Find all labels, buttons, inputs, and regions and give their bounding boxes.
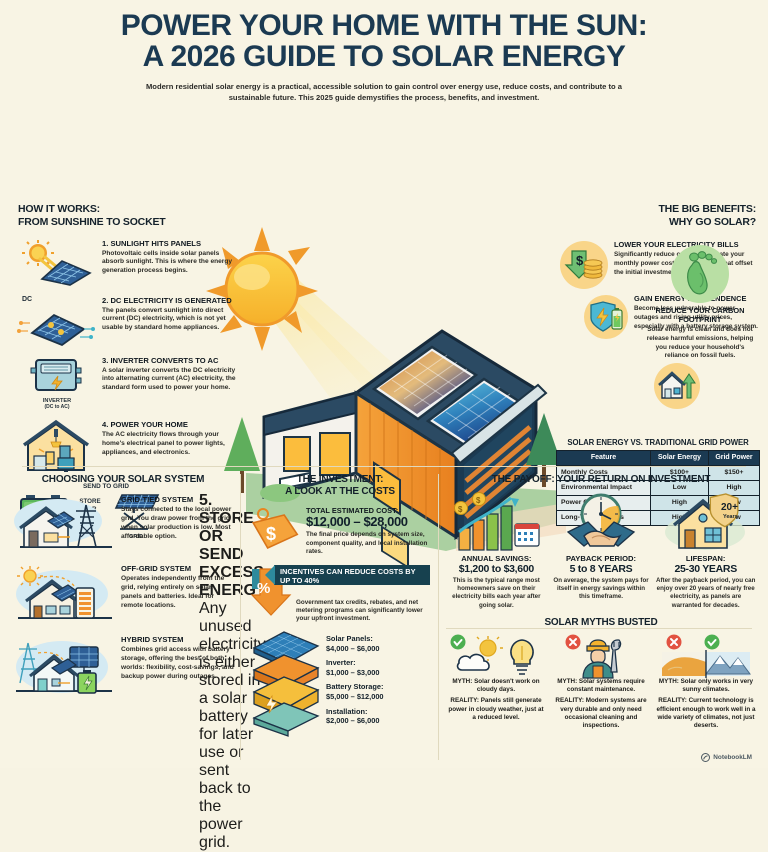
dc-panel-icon (18, 303, 94, 347)
bottom-band: CHOOSING YOUR SOLAR SYSTEM (0, 470, 768, 768)
breakdown-inverter-value: $1,000 – $3,000 (326, 668, 384, 678)
myth-sunny-climates: MYTH: Solar only works in very sunny cli… (656, 634, 756, 731)
title-line-2: A 2026 GUIDE TO SOLAR ENERGY (40, 41, 728, 72)
grid-tied-title: GRID-TIED SYSTEM (121, 495, 234, 504)
svg-text:20+: 20+ (721, 502, 738, 513)
notebooklm-logo-icon (701, 753, 710, 762)
svg-text:$: $ (476, 496, 481, 505)
step-1-sunlight-hits-panels: 1. SUNLIGHT HITS PANELS Photovoltaic cel… (18, 239, 240, 287)
total-cost-value: $12,000 – $28,000 (306, 515, 430, 529)
big-benefits-section: THE BIG BENEFITS: WHY GO SOLAR? $ (506, 203, 756, 236)
payoff-1-value: $1,200 to $3,600 (446, 563, 547, 575)
off-grid-body: OFF-GRID SYSTEM Operates independently f… (121, 564, 234, 611)
myth-3-reality: REALITY: Current technology is efficient… (656, 697, 756, 730)
breakdown-installation-label: Installation: (326, 707, 384, 717)
price-tag-icon: $ (250, 506, 300, 552)
table-col-grid: Grid Power (708, 451, 759, 466)
breakdown-solar-panels: Solar Panels: $4,000 – $6,000 (326, 634, 384, 653)
table-col-feature: Feature (557, 451, 651, 466)
step-2-text: The panels convert sunlight into direct … (102, 307, 240, 334)
step-2-title: 2. DC ELECTRICITY IS GENERATED (102, 297, 240, 306)
inverter-icon (28, 356, 86, 396)
hybrid-title: HYBRID SYSTEM (121, 635, 234, 644)
payoff-2-text: On average, the system pays for itself i… (551, 577, 652, 602)
grid-tied-art (12, 495, 116, 555)
house-up-arrow-icon (658, 370, 696, 402)
payoff-2-value: 5 to 8 YEARS (551, 563, 652, 575)
big-benefits-heading-line-2: WHY GO SOLAR? (506, 216, 756, 229)
investment-heading: THE INVESTMENT: A LOOK AT THE COSTS (250, 474, 430, 498)
inverter-caption: INVERTER(DC to AC) (18, 398, 96, 411)
big-benefits-heading: THE BIG BENEFITS: WHY GO SOLAR? (506, 203, 756, 228)
carbon-text: Solar energy is clean and does not relea… (646, 326, 754, 361)
myth-1-statement: MYTH: Solar doesn't work on cloudy days. (446, 678, 546, 695)
myths-row: MYTH: Solar doesn't work on cloudy days.… (446, 634, 756, 731)
payoff-row: $ $ ANNUAL SAVINGS: $1,200 to $3,600 Thi… (446, 492, 756, 610)
header: POWER YOUR HOME WITH THE SUN: A 2026 GUI… (0, 0, 768, 103)
off-grid-art (12, 564, 116, 626)
step-1-text: Photovoltaic cells inside solar panels a… (102, 250, 240, 277)
payoff-3-value: 25-30 YEARS (655, 563, 756, 575)
grid-tied-body: GRID-TIED SYSTEM Stays connected to the … (121, 495, 234, 542)
breakdown-inverter-label: Inverter: (326, 658, 384, 668)
total-cost-body: TOTAL ESTIMATED COST: $12,000 – $28,000 … (306, 506, 430, 557)
breakdown-solar-panels-value: $4,000 – $6,000 (326, 644, 384, 654)
cloud-bulb-icon (448, 634, 544, 678)
payoff-1-title: ANNUAL SAVINGS: (446, 554, 547, 563)
system-off-grid: OFF-GRID SYSTEM Operates independently f… (12, 564, 234, 626)
off-grid-text: Operates independently from the grid, re… (121, 575, 234, 611)
payoff-3-text: After the payback period, you can enjoy … (655, 577, 756, 610)
page-title: POWER YOUR HOME WITH THE SUN: A 2026 GUI… (40, 10, 728, 72)
svg-text:Years: Years (723, 514, 738, 520)
big-benefits-heading-line-1: THE BIG BENEFITS: (506, 203, 756, 216)
step-2-icon-wrap: DC (18, 296, 96, 347)
green-footprint-icon (680, 251, 720, 297)
investment-section: THE INVESTMENT: A LOOK AT THE COSTS $ TO… (250, 474, 430, 736)
table-col-solar: Solar Energy (650, 451, 708, 466)
comparison-table-title: SOLAR ENERGY VS. TRADITIONAL GRID POWER (556, 438, 760, 447)
incentive-banner: % INCENTIVES CAN REDUCE COSTS BY UP TO 4… (250, 565, 430, 601)
growth-chart-icon: $ $ (449, 492, 543, 554)
benefit-house-growth (654, 363, 764, 409)
grid-tied-house-icon (12, 495, 116, 555)
benefit-2-icon-circle (584, 295, 628, 339)
myths-heading: SOLAR MYTHS BUSTED (446, 617, 756, 629)
breakdown-battery: Battery Storage: $5,000 – $12,000 (326, 682, 384, 701)
system-hybrid: HYBRID SYSTEM Combines grid access with … (12, 635, 234, 699)
step-4-title: 4. POWER YOUR HOME (102, 421, 240, 430)
step-3-inverter-converts: INVERTER(DC to AC) 3. INVERTER CONVERTS … (18, 356, 240, 411)
payoff-lifespan: 20+ Years LIFESPAN: 25-30 YEARS After th… (655, 492, 756, 610)
investment-heading-line-1: THE INVESTMENT: (250, 474, 430, 486)
breakdown-battery-label: Battery Storage: (326, 682, 384, 692)
table-header-row: Feature Solar Energy Grid Power (557, 451, 760, 466)
handshake-clock-icon (554, 492, 648, 554)
down-arrow-money-icon: $ (565, 249, 603, 281)
shield-battery-icon (588, 301, 624, 333)
house-shield-icon: 20+ Years (659, 492, 753, 554)
sun-and-panel-icon (18, 239, 94, 287)
step-2-dc-electricity: DC (18, 296, 240, 347)
step-3-icon-wrap: INVERTER(DC to AC) (18, 356, 96, 411)
myth-cloudy-days: MYTH: Solar doesn't work on cloudy days.… (446, 634, 546, 731)
payoff-section: THE PAYOFF: YOUR RETURN ON INVESTMENT (446, 474, 756, 731)
step-1-title: 1. SUNLIGHT HITS PANELS (102, 240, 240, 249)
incentive-banner-text: INCENTIVES CAN REDUCE COSTS BY UP TO 40% (274, 565, 430, 585)
watermark: NotebookLM (701, 753, 752, 762)
how-it-works-heading: HOW IT WORKS: FROM SUNSHINE TO SOCKET (18, 203, 240, 228)
how-it-works-heading-line-1: HOW IT WORKS: (18, 203, 240, 216)
myth-maintenance: MYTH: Solar systems require constant mai… (551, 634, 651, 731)
carbon-title: REDUCE YOUR CARBON FOOTPRINT (646, 307, 754, 325)
payoff-payback-period: PAYBACK PERIOD: 5 to 8 YEARS On average,… (551, 492, 652, 610)
payoff-annual-savings: $ $ ANNUAL SAVINGS: $1,200 to $3,600 Thi… (446, 492, 547, 610)
step-1-body: 1. SUNLIGHT HITS PANELS Photovoltaic cel… (102, 239, 240, 277)
breakdown-installation: Installation: $2,000 – $6,000 (326, 707, 384, 726)
technician-wrench-icon (553, 634, 649, 678)
grid-tied-text: Stays connected to the local power grid.… (121, 506, 234, 542)
infographic-page: POWER YOUR HOME WITH THE SUN: A 2026 GUI… (0, 0, 768, 768)
incentive-note: Government tax credits, rebates, and net… (296, 599, 430, 624)
top-band: HOW IT WORKS: FROM SUNSHINE TO SOCKET (0, 103, 768, 455)
off-grid-house-icon (12, 564, 116, 626)
breakdown-inverter: Inverter: $1,000 – $3,000 (326, 658, 384, 677)
cost-stack-icon (250, 630, 322, 736)
breakdown-battery-value: $5,000 – $12,000 (326, 692, 384, 702)
benefit-3-icon-circle (654, 363, 700, 409)
hybrid-house-icon (12, 635, 116, 699)
watermark-label: NotebookLM (713, 754, 752, 761)
step-2-body: 2. DC ELECTRICITY IS GENERATED The panel… (102, 296, 240, 334)
payoff-2-title: PAYBACK PERIOD: (551, 554, 652, 563)
svg-text:$: $ (576, 253, 584, 268)
carbon-icon-circle (671, 245, 729, 303)
step-4-text: The AC electricity flows through your ho… (102, 431, 240, 458)
payoff-3-title: LIFESPAN: (655, 554, 756, 563)
step-2-dc-label: DC (18, 296, 96, 303)
title-line-1: POWER YOUR HOME WITH THE SUN: (40, 10, 728, 41)
how-it-works-heading-line-2: FROM SUNSHINE TO SOCKET (18, 216, 240, 229)
svg-text:$: $ (266, 524, 276, 544)
hybrid-body: HYBRID SYSTEM Combines grid access with … (121, 635, 234, 682)
benefit-carbon-footprint: REDUCE YOUR CARBON FOOTPRINT Solar energ… (646, 245, 754, 361)
breakdown-installation-value: $2,000 – $6,000 (326, 716, 384, 726)
myth-2-reality: REALITY: Modern systems are very durable… (551, 697, 651, 730)
cost-breakdown-list: Solar Panels: $4,000 – $6,000 Inverter: … (326, 634, 384, 726)
payoff-heading: THE PAYOFF: YOUR RETURN ON INVESTMENT (446, 474, 756, 486)
choosing-system-section: CHOOSING YOUR SOLAR SYSTEM (12, 474, 234, 699)
desert-mountain-icon (658, 634, 754, 678)
payoff-1-text: This is the typical range most homeowner… (446, 577, 547, 610)
total-cost-row: $ TOTAL ESTIMATED COST: $12,000 – $28,00… (250, 506, 430, 557)
svg-text:$: $ (458, 505, 463, 514)
system-grid-tied: GRID-TIED SYSTEM Stays connected to the … (12, 495, 234, 555)
off-grid-title: OFF-GRID SYSTEM (121, 564, 234, 573)
step-3-title: 3. INVERTER CONVERTS TO AC (102, 357, 240, 366)
step-1-icon-wrap (18, 239, 96, 287)
total-cost-note: The final price depends on system size, … (306, 531, 430, 556)
myth-2-statement: MYTH: Solar systems require constant mai… (551, 678, 651, 695)
myth-3-statement: MYTH: Solar only works in very sunny cli… (656, 678, 756, 695)
hybrid-text: Combines grid access with battery storag… (121, 646, 234, 682)
breakdown-solar-panels-label: Solar Panels: (326, 634, 384, 644)
choosing-system-heading: CHOOSING YOUR SOLAR SYSTEM (12, 474, 234, 486)
cost-breakdown-block: Solar Panels: $4,000 – $6,000 Inverter: … (250, 630, 430, 736)
page-subtitle: Modern residential solar energy is a pra… (144, 81, 624, 103)
step-4-body: 4. POWER YOUR HOME The AC electricity fl… (102, 420, 240, 458)
hybrid-art (12, 635, 116, 699)
benefit-1-icon-circle: $ (560, 241, 608, 289)
step-3-text: A solar inverter converts the DC electri… (102, 367, 240, 394)
myth-1-reality: REALITY: Panels still generate power in … (446, 697, 546, 722)
investment-heading-line-2: A LOOK AT THE COSTS (250, 486, 430, 498)
divider-horizontal-top (22, 466, 746, 467)
step-3-body: 3. INVERTER CONVERTS TO AC A solar inver… (102, 356, 240, 394)
